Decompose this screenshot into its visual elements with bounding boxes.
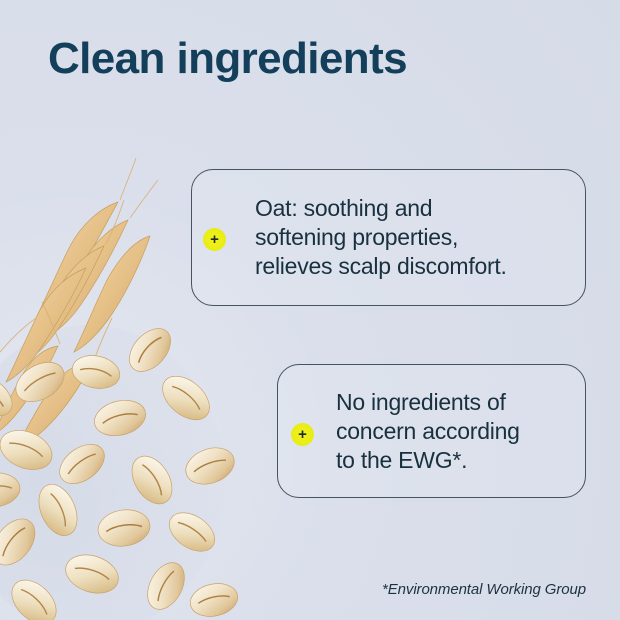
plus-badge-icon: + [203,228,226,251]
ingredient-card-ewg-text: No ingredients of concern according to t… [336,388,520,475]
ingredient-card-ewg: + No ingredients of concern according to… [277,364,586,498]
ingredient-card-oat: + Oat: soothing and softening properties… [191,169,586,306]
poster-canvas: Clean ingredients + Oat: soothing and so… [0,0,620,620]
footnote: *Environmental Working Group [382,581,586,598]
ingredient-card-oat-text: Oat: soothing and softening properties, … [255,194,507,281]
plus-badge-icon: + [291,423,314,446]
page-title: Clean ingredients [48,32,407,86]
